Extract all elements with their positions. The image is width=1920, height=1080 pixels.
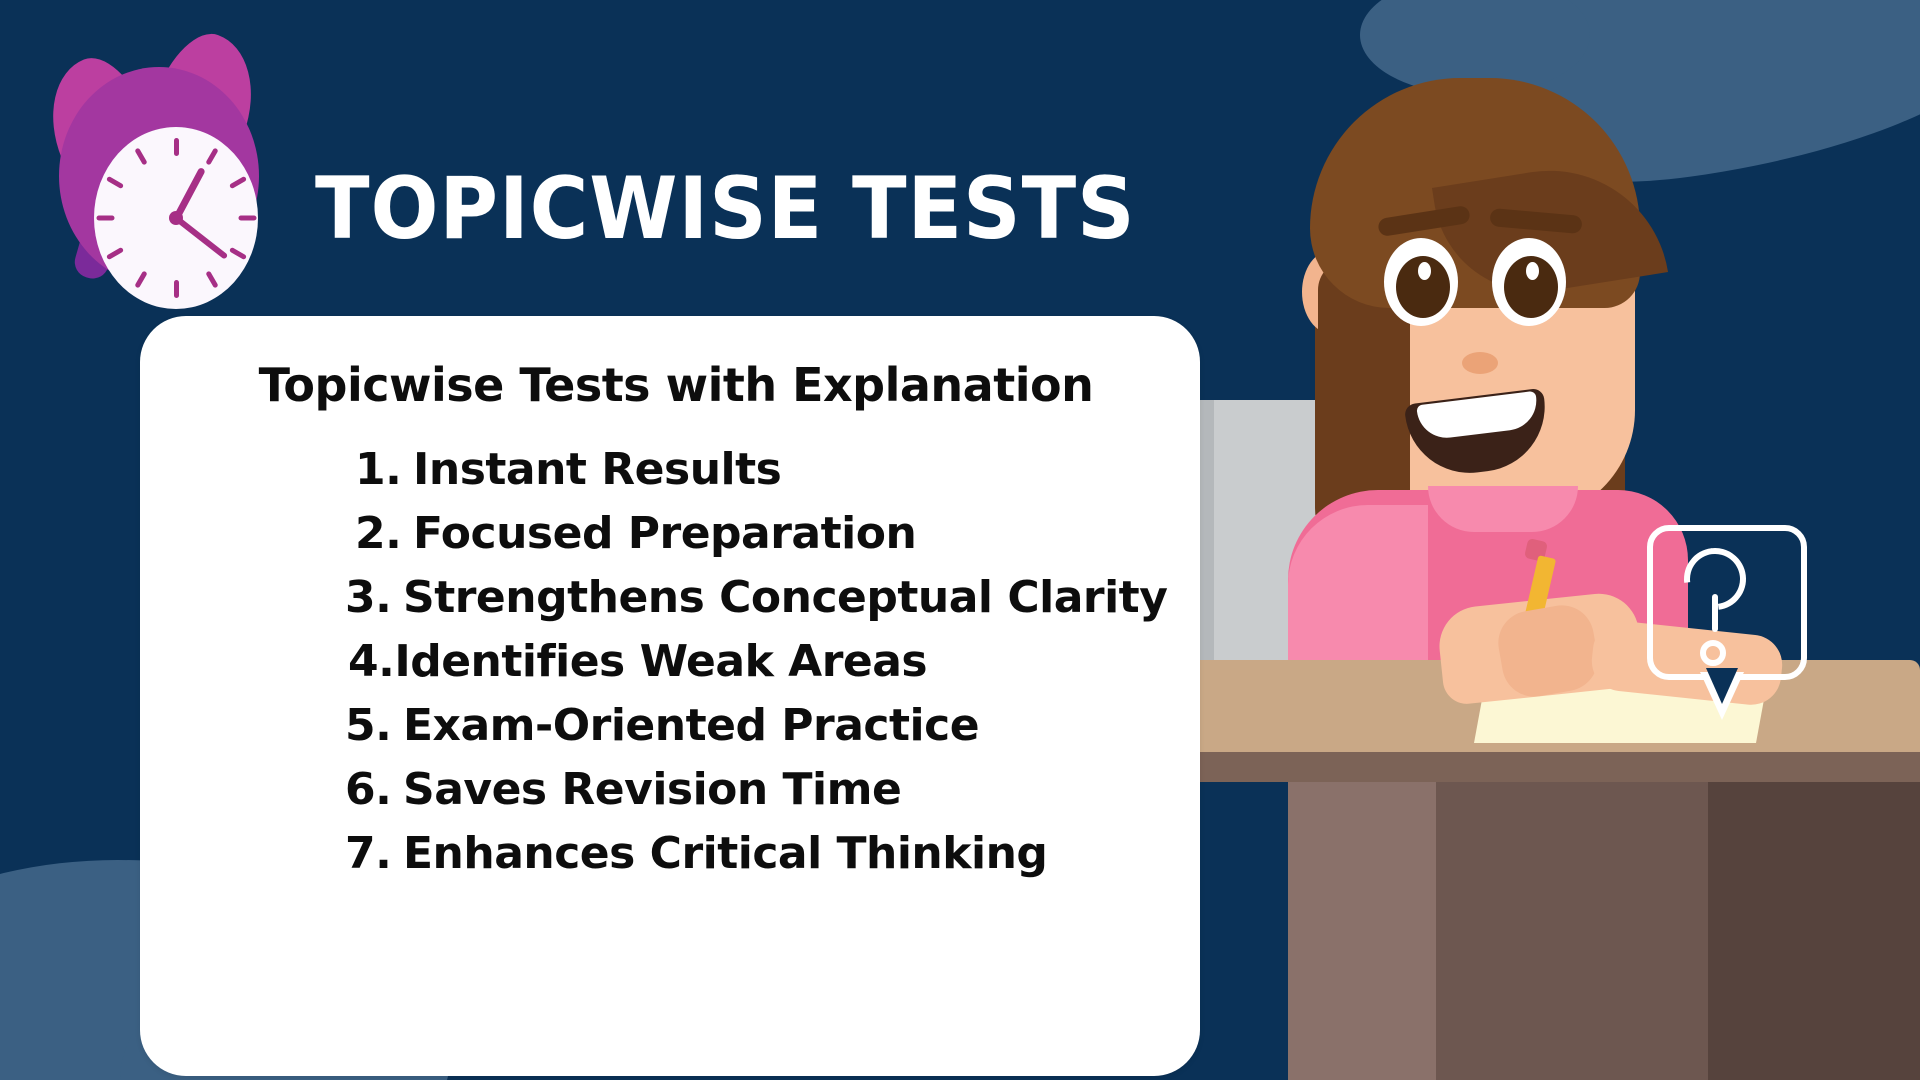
- list-item-label: Exam-Oriented Practice: [403, 700, 979, 751]
- list-item-label: Saves Revision Time: [403, 764, 901, 815]
- list-item: 5. Exam-Oriented Practice: [140, 700, 1200, 751]
- clock-minute-hand: [174, 216, 228, 260]
- eye-glint-left: [1418, 262, 1431, 280]
- shirt-collar: [1428, 486, 1578, 532]
- list-item: 1. Instant Results: [140, 444, 1200, 495]
- clock-pivot: [169, 211, 183, 225]
- list-item-number: 7.: [345, 828, 403, 879]
- benefits-card: Topicwise Tests with Explanation 1. Inst…: [140, 316, 1200, 1076]
- list-item: 3. Strengthens Conceptual Clarity: [140, 572, 1200, 623]
- list-item-number: 4.: [348, 636, 394, 687]
- list-item-label: Instant Results: [413, 444, 781, 495]
- list-item-label: Focused Preparation: [413, 508, 916, 559]
- eye-glint-right: [1526, 262, 1539, 280]
- alarm-clock-face: [94, 127, 258, 309]
- desk-body-highlight: [1288, 782, 1436, 1080]
- nose: [1462, 352, 1498, 374]
- alarm-clock-icon: [42, 25, 282, 285]
- list-item: 6. Saves Revision Time: [140, 764, 1200, 815]
- list-item-number: 1.: [355, 444, 413, 495]
- benefits-list: 1. Instant Results 2. Focused Preparatio…: [140, 444, 1200, 892]
- question-mark-stem: [1712, 594, 1718, 632]
- list-item: 2. Focused Preparation: [140, 508, 1200, 559]
- list-item-number: 5.: [345, 700, 403, 751]
- page-title: TOPICWISE TESTS: [315, 166, 1136, 252]
- card-heading: Topicwise Tests with Explanation: [140, 358, 1200, 412]
- alarm-clock-ring: [59, 67, 259, 285]
- poster-canvas: TOPICWISE TESTS: [0, 0, 1920, 1080]
- list-item-label: Identifies Weak Areas: [394, 636, 927, 687]
- list-item-label: Enhances Critical Thinking: [403, 828, 1047, 879]
- list-item-number: 2.: [355, 508, 413, 559]
- desk-edge: [1140, 752, 1920, 782]
- list-item-number: 3.: [345, 572, 403, 623]
- list-item-label: Strengthens Conceptual Clarity: [403, 572, 1167, 623]
- list-item: 7. Enhances Critical Thinking: [140, 828, 1200, 879]
- list-item-number: 6.: [345, 764, 403, 815]
- list-item: 4. Identifies Weak Areas: [140, 636, 1200, 687]
- desk-side-panel: [1708, 782, 1920, 1080]
- speech-bubble-tail-inner: [1706, 668, 1738, 704]
- question-mark-dot: [1700, 640, 1726, 666]
